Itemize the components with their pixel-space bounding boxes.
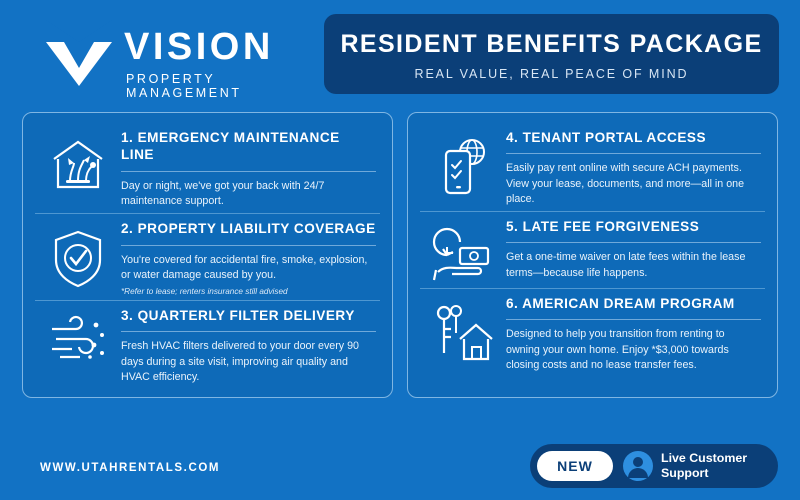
benefit-item: 2. PROPERTY LIABILITY COVERAGE You're co… bbox=[35, 213, 380, 300]
brand-name: VISION bbox=[124, 28, 318, 66]
heading-divider bbox=[506, 242, 761, 243]
benefits-columns: 1. EMERGENCY MAINTENANCE LINE Day or nig… bbox=[0, 104, 800, 398]
phone-globe-icon bbox=[420, 129, 506, 199]
support-label-line1: Live Customer bbox=[661, 451, 747, 466]
air-filter-icon bbox=[35, 307, 121, 365]
support-label-line2: Support bbox=[661, 466, 747, 481]
support-label: Live Customer Support bbox=[661, 451, 747, 481]
benefit-body: Designed to help you transition from ren… bbox=[506, 327, 761, 373]
benefit-body: Easily pay rent online with secure ACH p… bbox=[506, 161, 761, 207]
house-keys-icon bbox=[420, 295, 506, 365]
page-subtitle: REAL VALUE, REAL PEACE OF MIND bbox=[324, 67, 779, 81]
page-title: RESIDENT BENEFITS PACKAGE bbox=[324, 30, 779, 59]
benefit-item: 3. QUARTERLY FILTER DELIVERY Fresh HVAC … bbox=[35, 300, 380, 389]
benefit-heading: 6. AMERICAN DREAM PROGRAM bbox=[506, 295, 761, 312]
benefit-heading: 1. EMERGENCY MAINTENANCE LINE bbox=[121, 129, 376, 164]
house-maintenance-icon bbox=[35, 129, 121, 193]
benefit-item: 5. LATE FEE FORGIVENESS Get a one-time w… bbox=[420, 211, 765, 288]
benefit-heading: 3. QUARTERLY FILTER DELIVERY bbox=[121, 307, 376, 324]
benefit-heading: 4. TENANT PORTAL ACCESS bbox=[506, 129, 761, 146]
benefits-card-left: 1. EMERGENCY MAINTENANCE LINE Day or nig… bbox=[22, 112, 393, 398]
benefit-body: Get a one-time waiver on late fees withi… bbox=[506, 250, 761, 280]
benefit-item: 1. EMERGENCY MAINTENANCE LINE Day or nig… bbox=[35, 123, 380, 213]
shield-check-icon bbox=[35, 220, 121, 290]
benefit-item: 4. TENANT PORTAL ACCESS Easily pay rent … bbox=[420, 123, 765, 211]
customer-support-avatar-icon bbox=[623, 451, 653, 481]
brand-tagline: PROPERTY MANAGEMENT bbox=[124, 72, 318, 100]
website-url[interactable]: WWW.UTAHRENTALS.COM bbox=[40, 462, 220, 474]
benefit-body: Fresh HVAC filters delivered to your doo… bbox=[121, 339, 376, 385]
new-badge: NEW bbox=[537, 451, 613, 481]
resident-benefits-flyer: { "brand": { "logo_name": "VISION", "log… bbox=[0, 0, 800, 500]
benefit-heading: 2. PROPERTY LIABILITY COVERAGE bbox=[121, 220, 376, 237]
brand-logo: VISION PROPERTY MANAGEMENT bbox=[0, 0, 318, 100]
heading-divider bbox=[121, 245, 376, 246]
benefit-body: Day or night, we've got your back with 2… bbox=[121, 179, 376, 209]
benefit-body: You're covered for accidental fire, smok… bbox=[121, 253, 376, 283]
benefit-heading: 5. LATE FEE FORGIVENESS bbox=[506, 218, 761, 235]
title-banner: RESIDENT BENEFITS PACKAGE REAL VALUE, RE… bbox=[324, 14, 779, 94]
flyer-header: VISION PROPERTY MANAGEMENT RESIDENT BENE… bbox=[0, 0, 800, 104]
vision-v-logo-icon bbox=[40, 20, 118, 86]
benefits-card-right: 4. TENANT PORTAL ACCESS Easily pay rent … bbox=[407, 112, 778, 398]
heading-divider bbox=[121, 171, 376, 172]
heading-divider bbox=[121, 331, 376, 332]
heading-divider bbox=[506, 153, 761, 154]
live-support-banner[interactable]: NEW Live Customer Support bbox=[530, 444, 778, 488]
benefit-note: *Refer to lease; renters insurance still… bbox=[121, 287, 376, 296]
hand-money-clock-icon bbox=[420, 218, 506, 284]
flyer-footer: WWW.UTAHRENTALS.COM NEW Live Customer Su… bbox=[0, 446, 800, 500]
heading-divider bbox=[506, 319, 761, 320]
benefit-item: 6. AMERICAN DREAM PROGRAM Designed to he… bbox=[420, 288, 765, 377]
